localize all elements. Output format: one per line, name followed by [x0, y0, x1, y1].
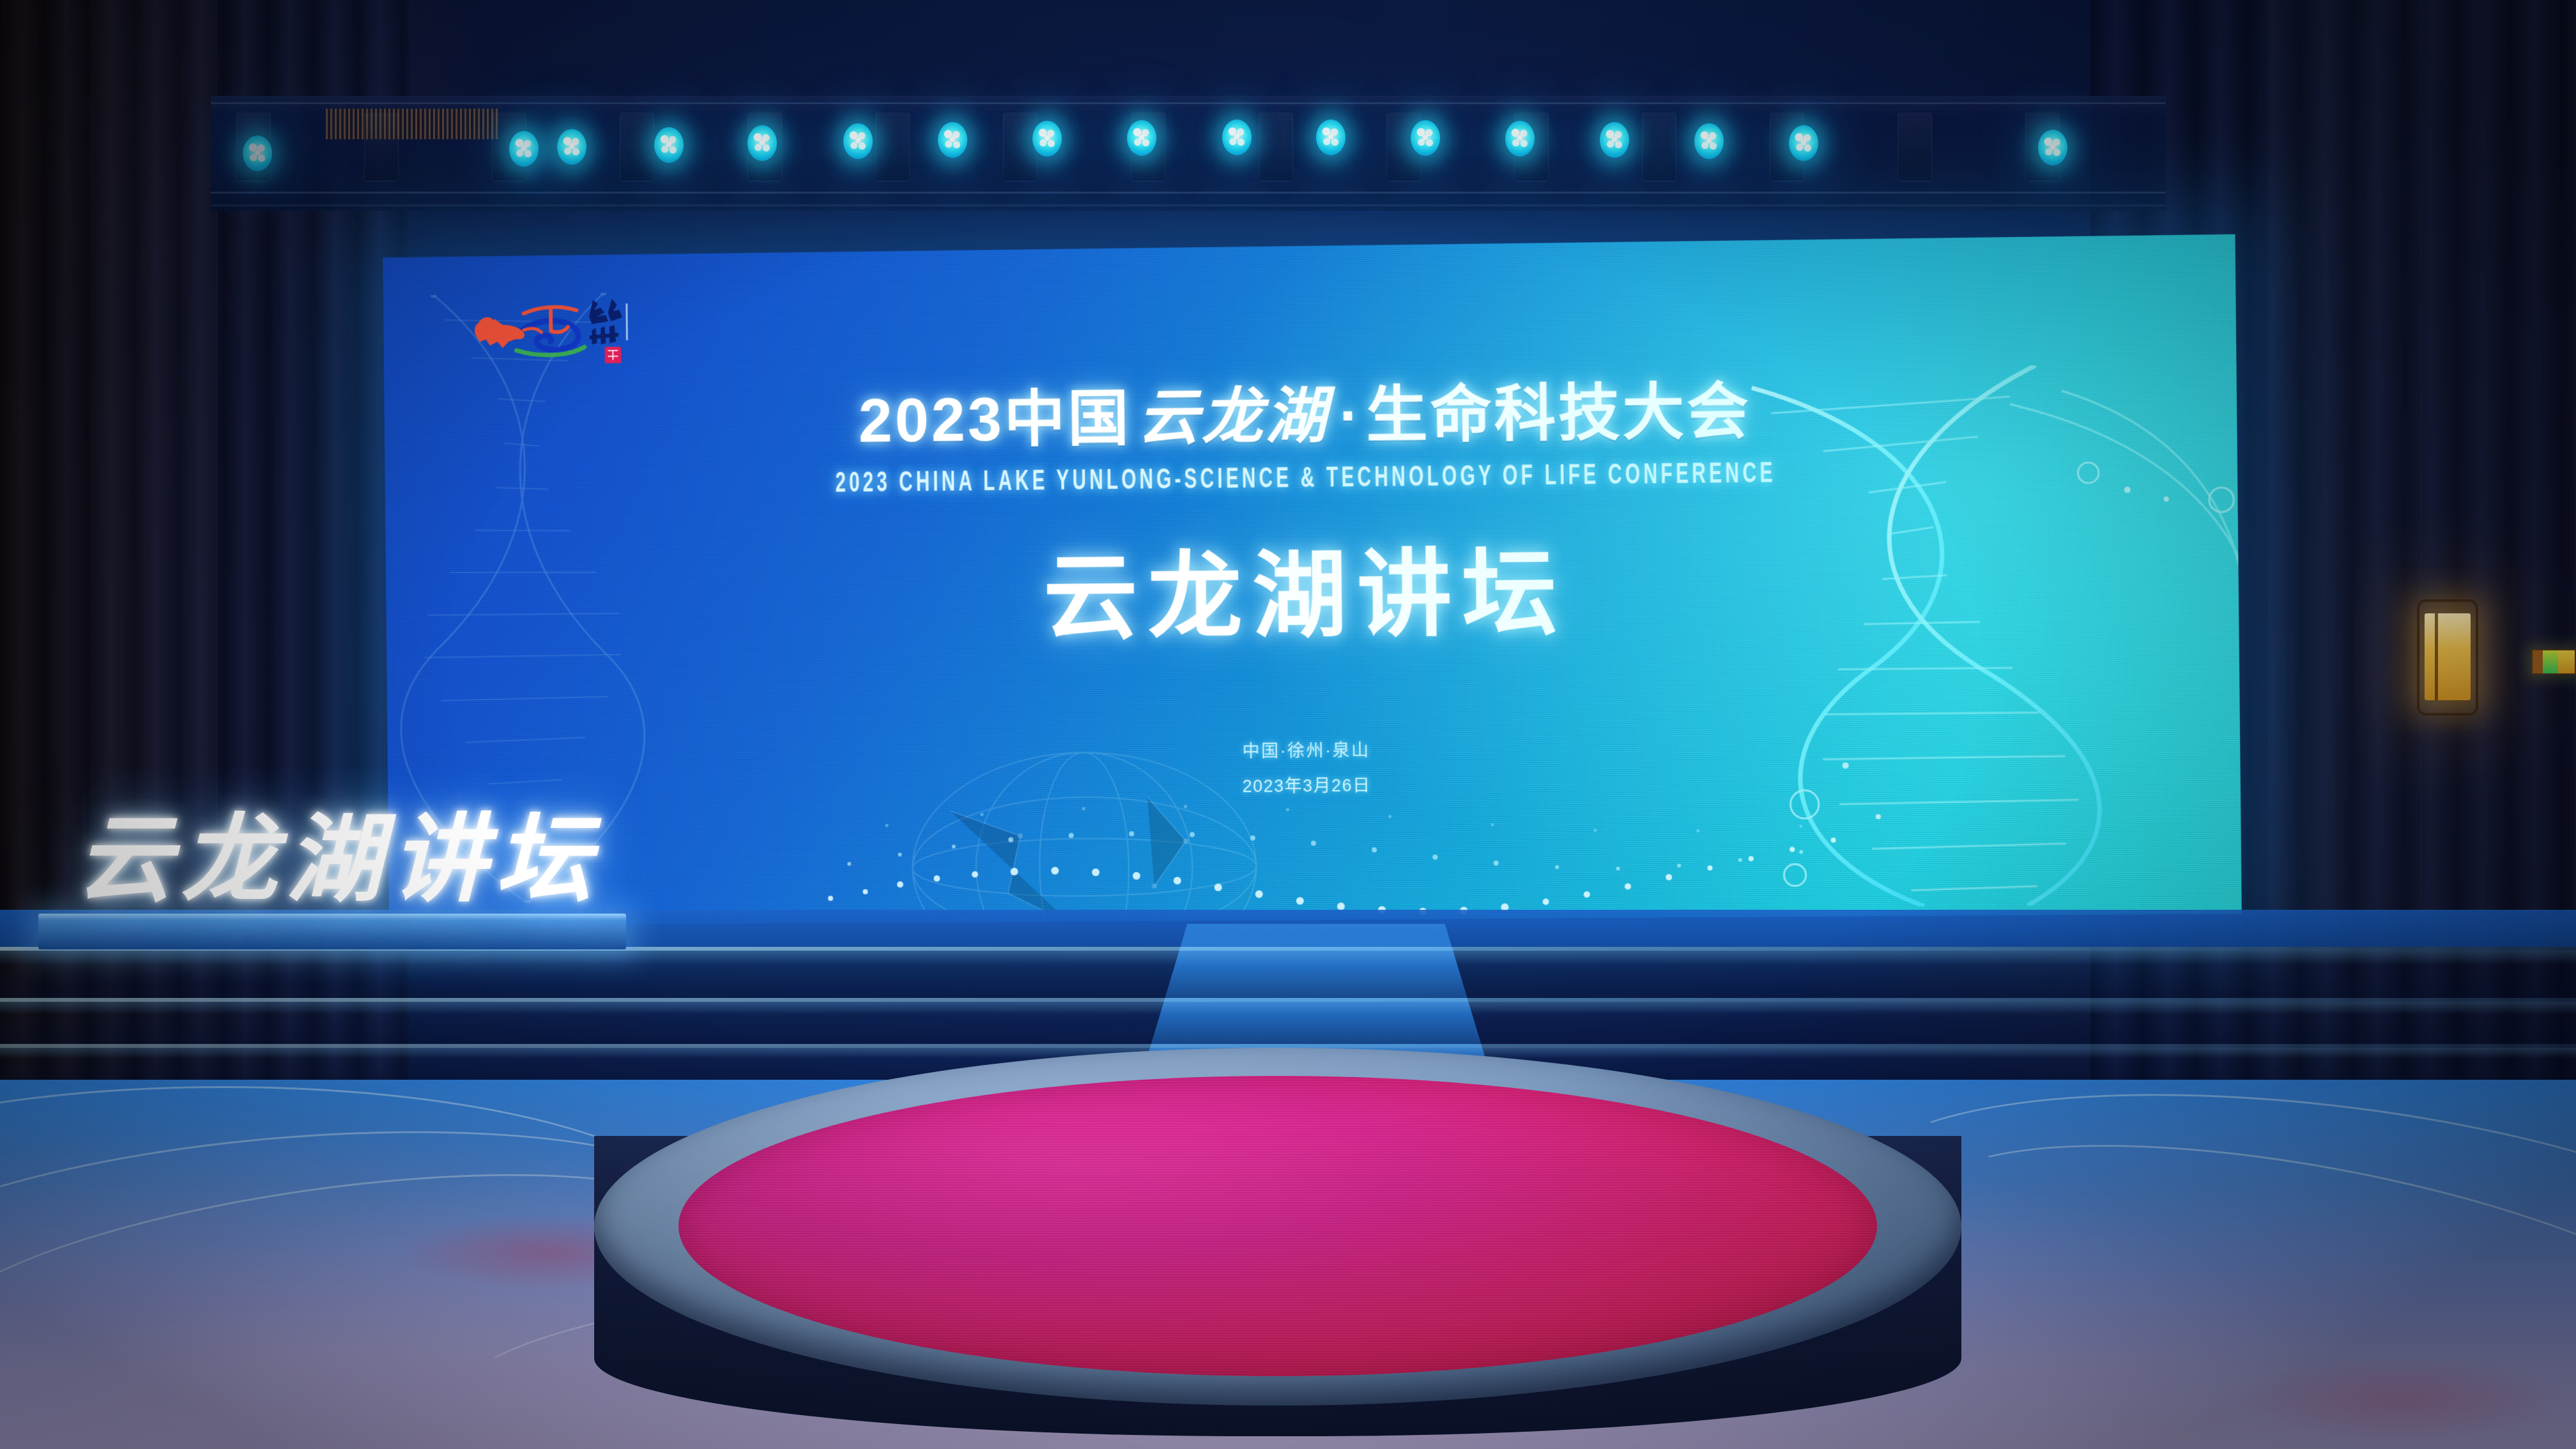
exit-sign-segment	[2558, 650, 2575, 673]
xuzhou-city-logo	[461, 288, 644, 367]
exit-sign-segment	[2533, 650, 2543, 673]
lighting-truss	[211, 96, 2166, 211]
carpet-stain	[2236, 1354, 2568, 1444]
truss-fixture-box	[875, 112, 910, 181]
particle-dot-wave-graphic	[792, 778, 1880, 926]
stage-step-face	[0, 951, 2576, 998]
par-light	[1694, 123, 1724, 159]
par-light	[1789, 125, 1818, 161]
par-light	[938, 122, 967, 158]
conference-stage-photo: 2023中国云龙湖·生命科技大会 2023 CHINA LAKE YUNLONG…	[0, 0, 2576, 1449]
par-light	[1505, 121, 1535, 157]
truss-bar-top	[211, 102, 2166, 104]
forum-headline: 云龙湖讲坛	[385, 509, 2239, 664]
par-light	[1316, 119, 1345, 155]
title-part1: 2023中国	[858, 384, 1131, 455]
wall-panel-left	[89, 0, 217, 907]
title-separator-dot: ·	[1335, 381, 1367, 450]
wall-panel-right	[2268, 0, 2421, 933]
truss-fixture-box	[1642, 112, 1676, 181]
led-backdrop-screen: 2023中国云龙湖·生命科技大会 2023 CHINA LAKE YUNLONG…	[383, 234, 2242, 926]
truss-fixture-box	[364, 112, 399, 181]
platform-magenta-center	[678, 1076, 1877, 1376]
stage-step-face	[0, 1002, 2576, 1044]
par-light	[1127, 120, 1156, 156]
circular-stage-platform	[594, 1048, 1961, 1449]
truss-bar-lower	[211, 204, 2166, 206]
par-light	[509, 131, 539, 167]
par-light	[1032, 121, 1062, 157]
exit-sign	[2531, 649, 2576, 675]
title-script-yunlonghu: 云龙湖	[1131, 379, 1336, 453]
truss-bar-bottom	[211, 192, 2166, 194]
truss-fixture-box	[1259, 112, 1293, 181]
truss-fixture-box	[620, 112, 654, 181]
exit-sign-segment	[2543, 650, 2558, 673]
par-light	[1222, 119, 1252, 155]
title-part2: 生命科技大会	[1366, 377, 1752, 450]
vent-grill	[326, 109, 498, 139]
truss-fixture-box	[1897, 112, 1932, 181]
par-light	[747, 125, 777, 161]
wall-sconce-lamp	[2425, 613, 2471, 700]
par-light	[843, 123, 873, 159]
par-light	[557, 129, 586, 165]
sconce-frame	[2417, 599, 2478, 716]
wall-panel-far-right	[2421, 0, 2576, 933]
par-light	[1600, 122, 1629, 158]
truss-fixture-box	[1003, 112, 1038, 181]
par-light	[2038, 130, 2067, 165]
par-light	[654, 127, 684, 163]
par-light	[243, 135, 272, 171]
stage-calligraphy-sign: 云龙湖讲坛	[64, 795, 613, 923]
par-light	[1411, 120, 1440, 156]
